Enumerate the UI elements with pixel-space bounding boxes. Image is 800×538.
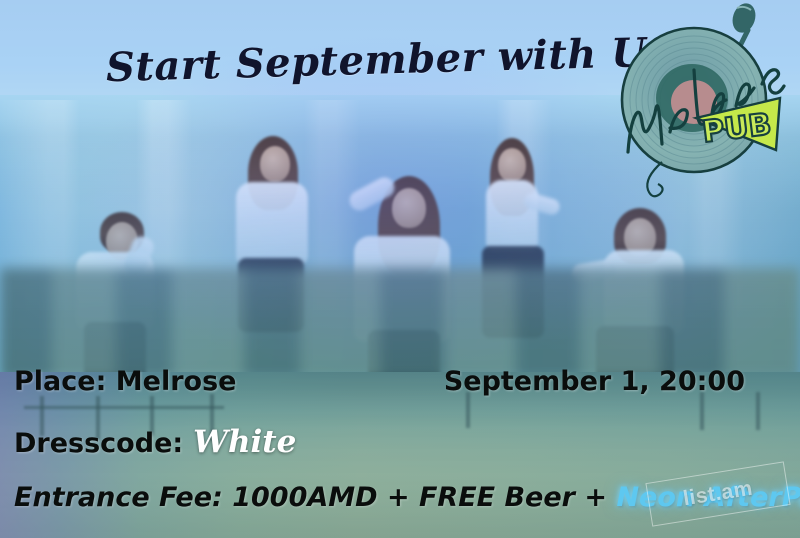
melrose-pub-logo: PUB [600,2,800,202]
entrance-fee-prefix: Entrance Fee: 1000AMD + FREE Beer + [14,482,616,513]
date-time-text: September 1, 20:00 [444,366,745,397]
event-poster: Start September with US! [0,0,800,538]
logo-artwork: PUB [600,2,800,202]
cable [647,162,662,196]
dresscode-line: Dresscode: White [14,424,296,460]
dresscode-value: White [193,424,296,460]
place-text: Place: Melrose [14,366,236,397]
dresscode-label: Dresscode: [14,428,183,459]
